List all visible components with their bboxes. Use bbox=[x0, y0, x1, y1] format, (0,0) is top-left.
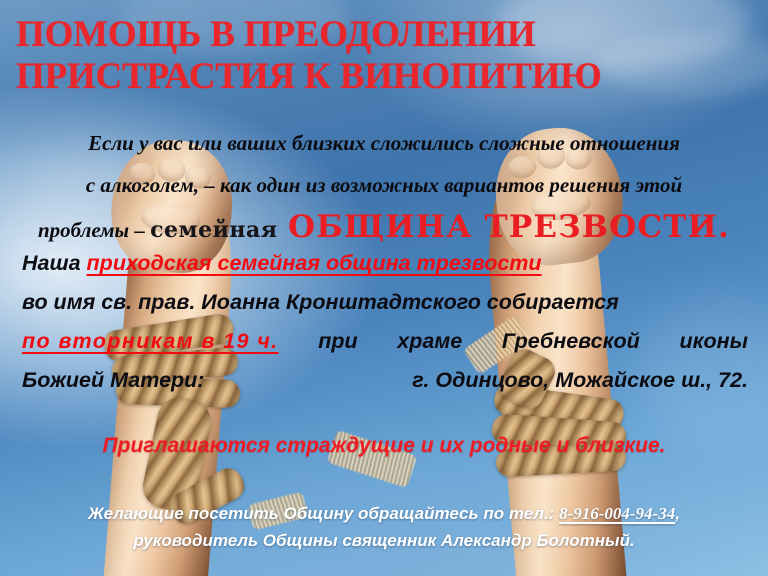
title-line-1: ПОМОЩЬ В ПРЕОДОЛЕНИИ bbox=[16, 14, 752, 56]
parish-community-highlight: приходская семейная община трезвости bbox=[87, 251, 542, 275]
title-line-2: ПРИСТРАСТИЯ К ВИНОПИТИЮ bbox=[16, 56, 752, 98]
lead-line-3-prefix: проблемы – bbox=[38, 218, 150, 242]
body-row-3: по вторникам в 19 ч.прихрамеГребневскойи… bbox=[22, 322, 748, 361]
text-layer: ПОМОЩЬ В ПРЕОДОЛЕНИИ ПРИСТРАСТИЯ К ВИНОП… bbox=[0, 0, 768, 576]
footer-line-2: руководитель Общины священник Александр … bbox=[0, 527, 768, 554]
page-title: ПОМОЩЬ В ПРЕОДОЛЕНИИ ПРИСТРАСТИЯ К ВИНОП… bbox=[16, 14, 752, 98]
address-text: г. Одинцово, Можайское ш., 72. bbox=[412, 361, 748, 400]
body-row-3-word: храме bbox=[397, 322, 462, 361]
body-row-1: Наша приходская семейная община трезвост… bbox=[22, 244, 748, 283]
lead-spacer bbox=[278, 218, 289, 242]
body-row-3-word: иконы bbox=[679, 322, 748, 361]
footer-line-1-prefix: Желающие посетить Общину обращайтесь по … bbox=[88, 504, 559, 523]
body-row-2: во имя св. прав. Иоанна Кронштадтского с… bbox=[22, 283, 748, 322]
lead-line-2: с алкоголем, – как один из возможных вар… bbox=[12, 164, 756, 206]
poster-root: ПОМОЩЬ В ПРЕОДОЛЕНИИ ПРИСТРАСТИЯ К ВИНОП… bbox=[0, 0, 768, 576]
body-row-3-word: при bbox=[318, 322, 357, 361]
body-row-1-plain: Наша bbox=[22, 251, 87, 275]
lead-line-1: Если у вас или ваших близких сложились с… bbox=[12, 122, 756, 164]
body-paragraph: Наша приходская семейная община трезвост… bbox=[22, 244, 748, 400]
lead-paragraph: Если у вас или ваших близких сложились с… bbox=[12, 122, 756, 251]
footer-contact: Желающие посетить Общину обращайтесь по … bbox=[0, 500, 768, 554]
body-row-4: Божией Матери:г. Одинцово, Можайское ш.,… bbox=[22, 361, 748, 400]
phone-number-link[interactable]: 8-916-004-94-34 bbox=[559, 504, 675, 523]
invitation-text: Приглашаются страждущие и их родные и бл… bbox=[0, 434, 768, 458]
slavonic-red-headline: ОБЩИНА ТРЕЗВОСТИ. bbox=[288, 209, 730, 245]
slavonic-black-text: семейная bbox=[150, 217, 277, 243]
church-name-suffix: Божией Матери: bbox=[22, 361, 204, 400]
schedule-highlight: по вторникам в 19 ч. bbox=[22, 322, 279, 361]
footer-line-1-suffix: , bbox=[675, 504, 680, 523]
body-row-3-word: Гребневской bbox=[502, 322, 640, 361]
footer-line-1: Желающие посетить Общину обращайтесь по … bbox=[0, 500, 768, 527]
